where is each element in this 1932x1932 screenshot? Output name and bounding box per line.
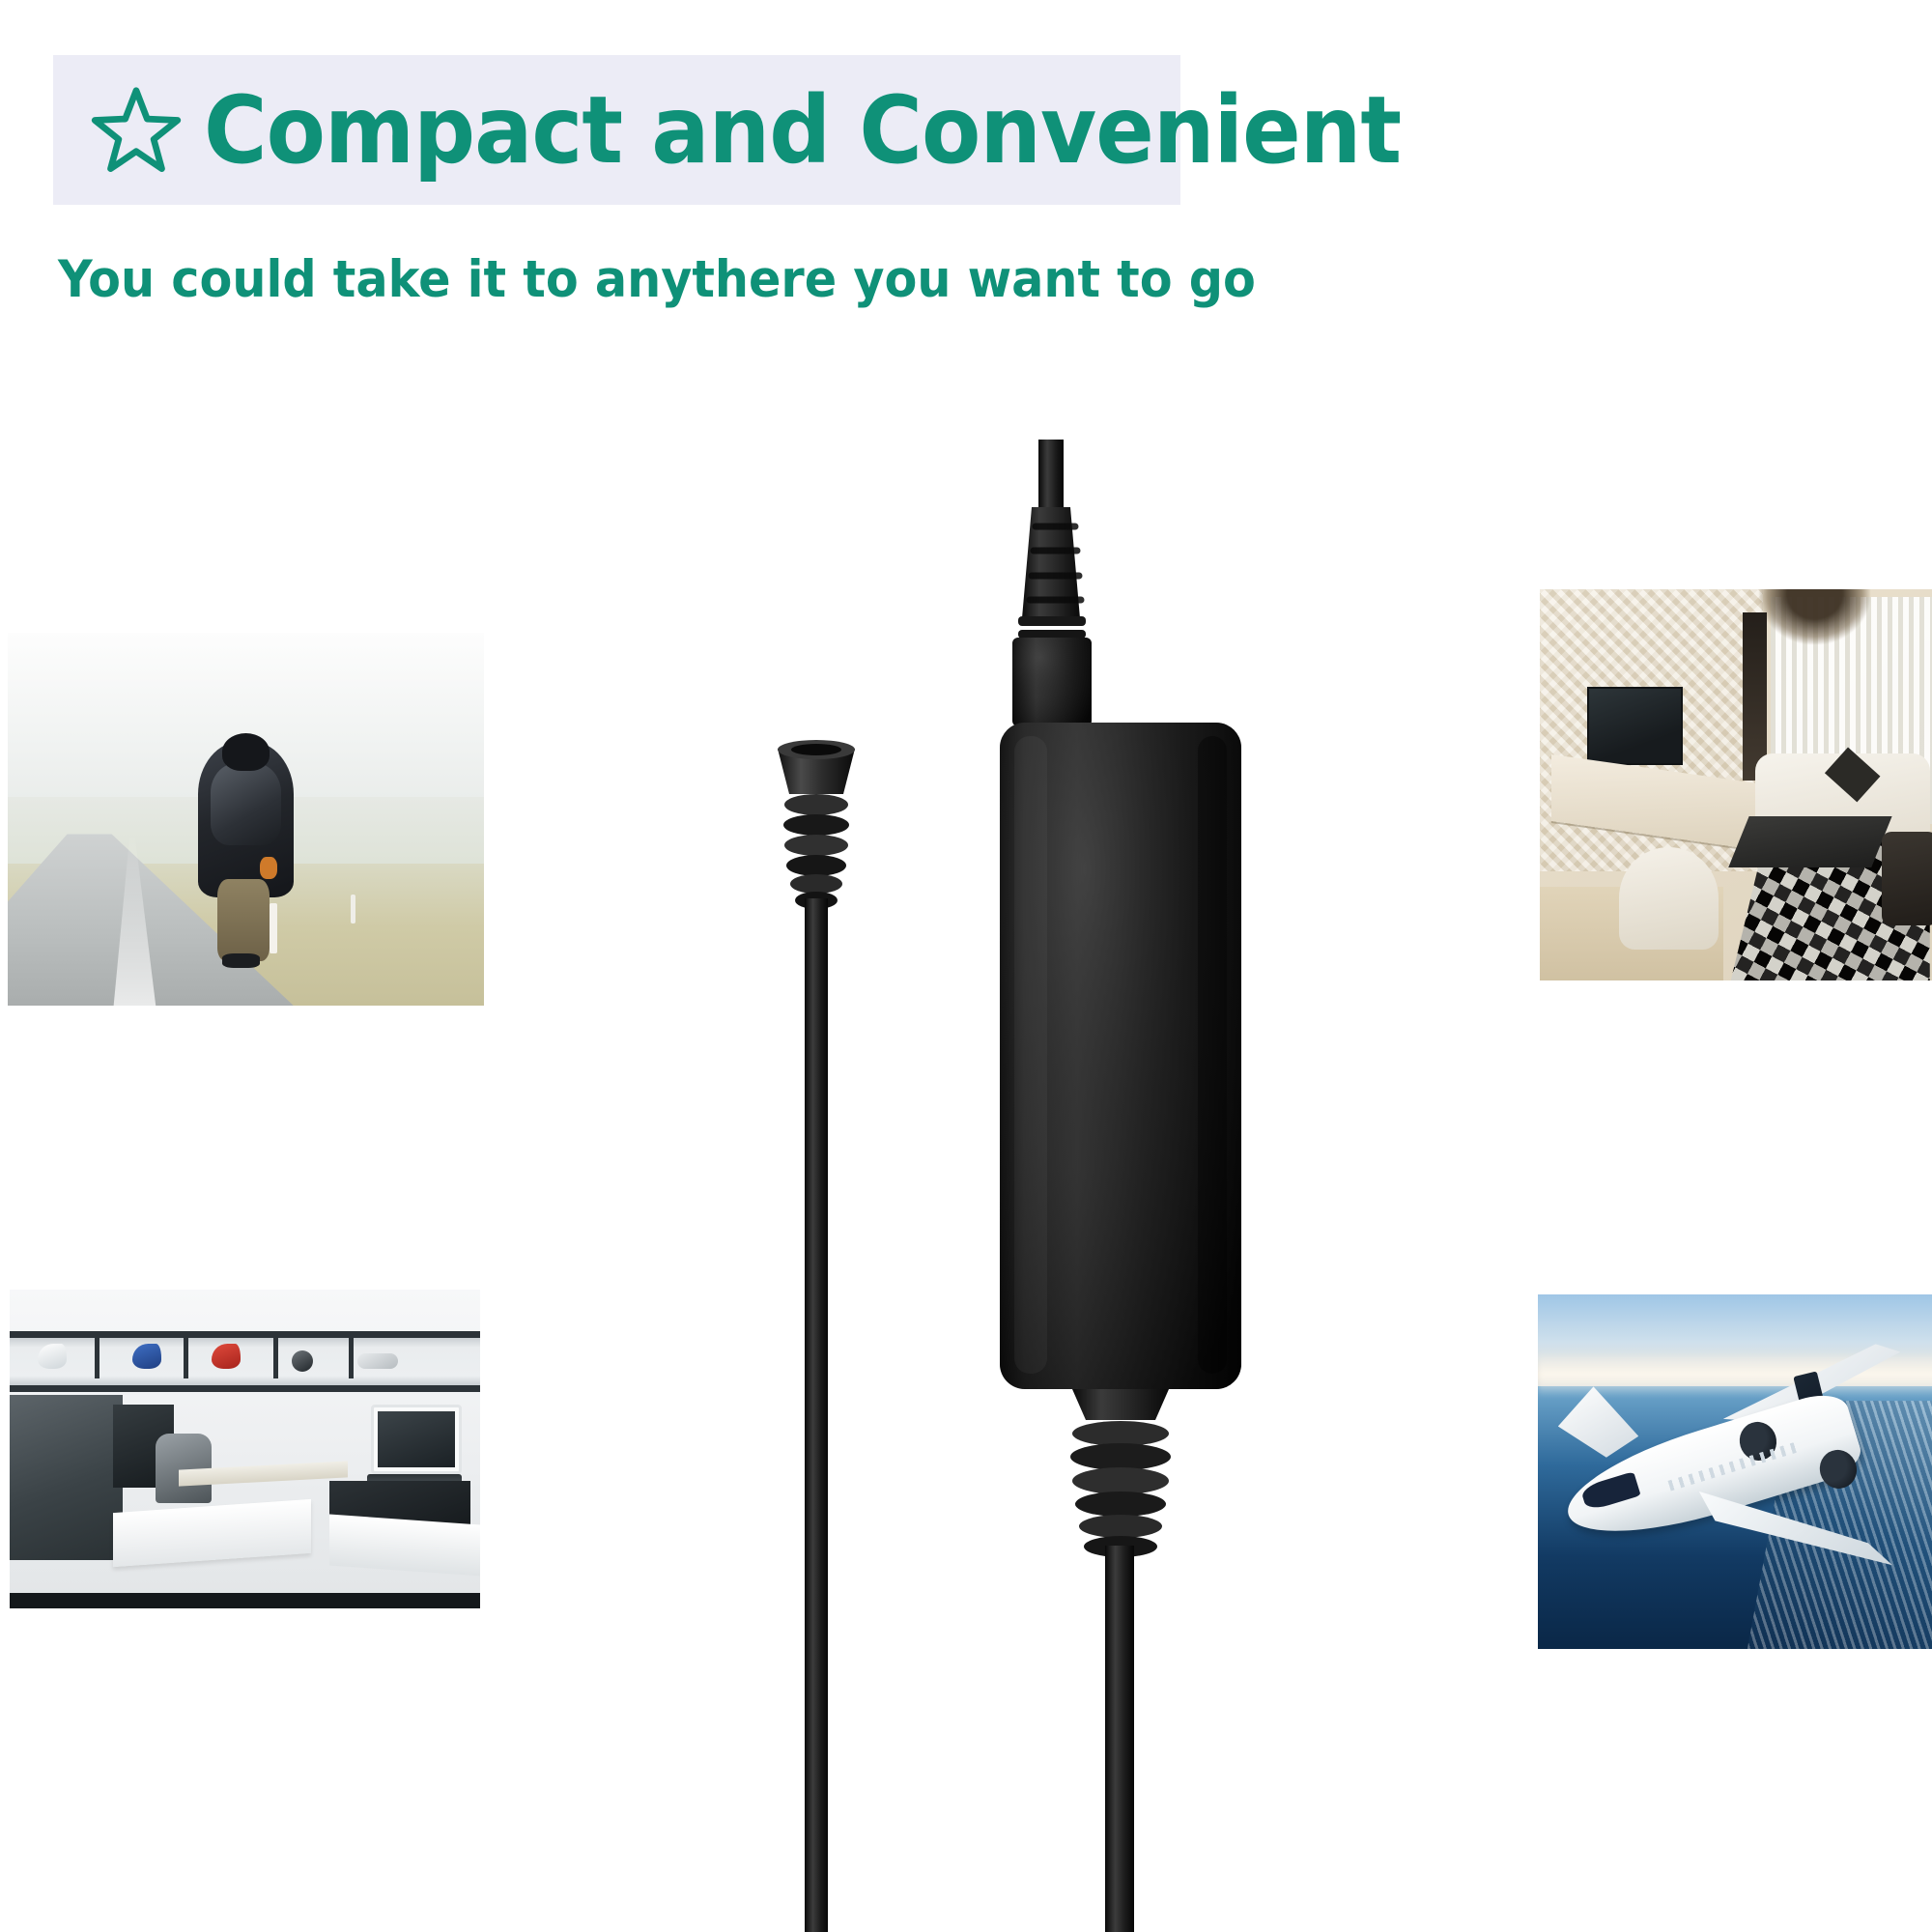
bird-figurine-white	[38, 1344, 67, 1369]
strain-relief-bottom	[1070, 1389, 1171, 1557]
dc-output-cable	[1105, 1546, 1134, 1932]
glass-coffee-table	[1728, 816, 1892, 867]
roadside-post-far	[351, 895, 355, 923]
dc-barrel-tip	[778, 740, 855, 909]
hiker-legs	[217, 879, 270, 961]
ac-input-cable	[1038, 440, 1064, 507]
hood	[222, 733, 270, 771]
photo-livingroom	[1540, 589, 1932, 980]
dark-partition	[10, 1395, 123, 1561]
shelf-object	[357, 1353, 398, 1369]
photo-livingroom-scene	[1540, 589, 1932, 980]
subtitle-text: You could take it to anythere you want t…	[58, 254, 1256, 305]
strain-relief-top	[1018, 507, 1086, 639]
shelf-divider	[95, 1331, 99, 1379]
floor-shadow-bar	[10, 1593, 480, 1609]
wall-mounted-tv	[1587, 687, 1683, 765]
roadside-post	[270, 903, 277, 953]
photo-plane-scene	[1538, 1294, 1932, 1649]
photo-office-scene	[10, 1290, 480, 1608]
photo-plane	[1538, 1294, 1932, 1649]
hiker-shoe	[222, 953, 260, 968]
monitor-white	[371, 1405, 462, 1474]
shelf-ornament	[292, 1350, 313, 1372]
bird-figurine-red	[212, 1344, 241, 1369]
shelf-divider	[349, 1331, 354, 1379]
round-armchair	[1619, 847, 1719, 949]
photo-hiker-scene	[8, 633, 484, 1006]
shelf-divider	[184, 1331, 188, 1379]
page-title: Compact and Convenient	[204, 84, 1401, 177]
backpack	[211, 763, 282, 845]
dc-tip-cable	[805, 898, 828, 1932]
header-banner: Compact and Convenient	[53, 55, 1180, 205]
backpack-strap	[260, 857, 276, 879]
wall-shelf	[10, 1331, 480, 1393]
dark-sofa	[1882, 832, 1932, 925]
shelf-divider	[273, 1331, 278, 1379]
infographic-canvas: Compact and Convenient You could take it…	[0, 0, 1932, 1932]
chandelier	[1759, 589, 1870, 644]
photo-hiker	[8, 633, 484, 1006]
star-outline-icon	[90, 84, 183, 177]
photo-office	[10, 1290, 480, 1608]
desk-right	[329, 1514, 480, 1576]
bird-figurine-blue	[132, 1344, 161, 1369]
ac-input-connector	[1012, 638, 1092, 726]
adapter-brick	[1000, 723, 1241, 1389]
